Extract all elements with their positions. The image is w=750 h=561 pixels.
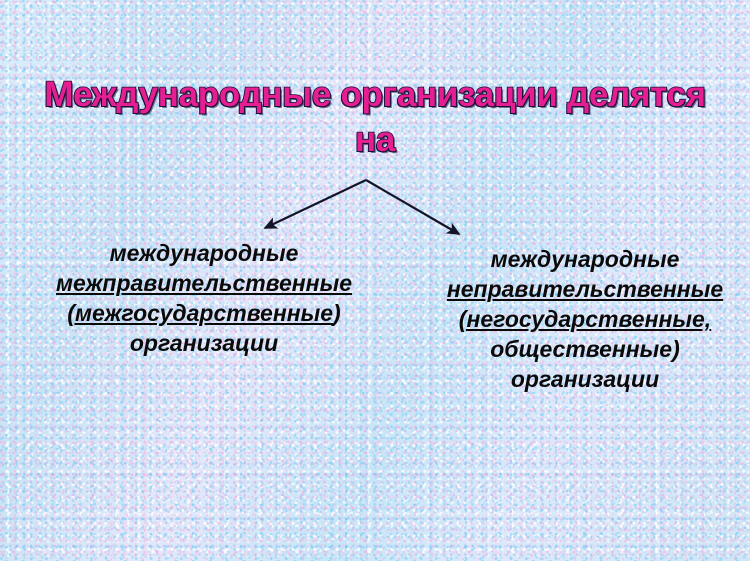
branch-left-line-2: межправительственные — [14, 268, 394, 298]
branch-left-line-3-suffix: ) — [333, 300, 341, 326]
slide-canvas: Международные организации делятся на меж… — [0, 0, 750, 561]
branch-right-nongovernmental: международные неправительственные (негос… — [420, 244, 750, 394]
branch-right-line-2: неправительственные — [420, 274, 750, 304]
branch-right-line-3: (негосударственные, — [420, 304, 750, 334]
branch-left-intergovernmental: международные межправительственные (межг… — [14, 238, 394, 358]
branch-right-line-3-underlined: (негосударственные, — [459, 306, 711, 332]
branch-right-line-5: организации — [420, 364, 750, 394]
branch-left-line-3-underlined: (межгосударственные — [67, 300, 333, 326]
branch-right-line-2-underlined: неправительственные — [447, 276, 723, 302]
page-title: Международные организации делятся на — [30, 72, 720, 162]
branch-left-line-3: (межгосударственные) — [14, 298, 394, 328]
branch-left-line-2-underlined: межправительственные — [56, 270, 352, 296]
arrow-to-left-branch — [265, 180, 366, 228]
branch-right-line-4: общественные) — [420, 334, 750, 364]
branch-left-line-4: организации — [14, 328, 394, 358]
branch-left-line-1: международные — [14, 238, 394, 268]
arrow-to-right-branch — [366, 180, 459, 234]
branch-right-line-1: международные — [420, 244, 750, 274]
